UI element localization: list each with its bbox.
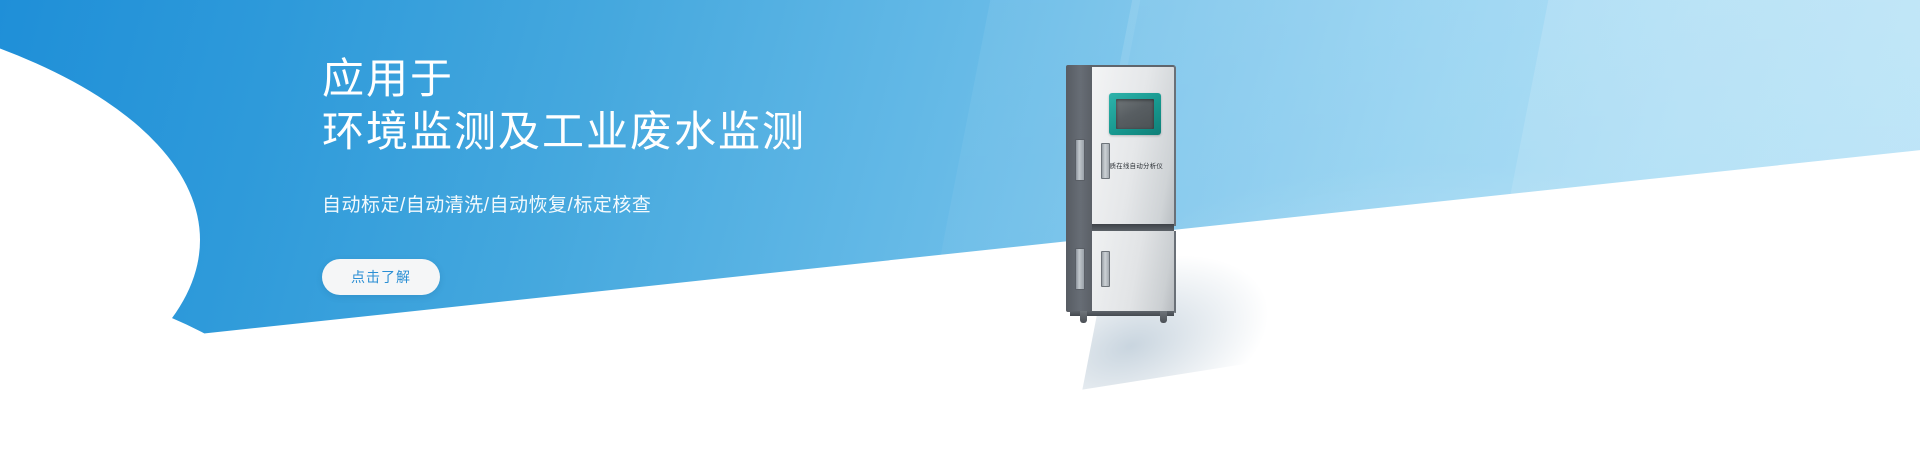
- hero-copy-block: 应用于 环境监测及工业废水监测 自动标定/自动清洗/自动恢复/标定核查 点击了解: [322, 52, 1022, 295]
- front-latch-upper-icon: [1101, 143, 1110, 179]
- caster-right-icon: [1160, 311, 1167, 323]
- caster-left-icon: [1080, 311, 1087, 323]
- learn-more-button[interactable]: 点击了解: [322, 259, 440, 295]
- cabinet-side-panel: [1066, 65, 1092, 312]
- cabinet-door-seam: [1092, 224, 1174, 231]
- hero-headline: 应用于 环境监测及工业废水监测: [322, 52, 1022, 158]
- side-latch-upper-icon: [1075, 139, 1085, 181]
- headline-line-2: 环境监测及工业废水监测: [322, 105, 1022, 158]
- hero-banner: 应用于 环境监测及工业废水监测 自动标定/自动清洗/自动恢复/标定核查 点击了解…: [0, 0, 1920, 450]
- side-latch-lower-icon: [1075, 248, 1085, 290]
- analyzer-cabinet: 水质在线自动分析仪: [1066, 65, 1174, 312]
- product-image: 水质在线自动分析仪: [1058, 60, 1278, 380]
- headline-line-1: 应用于: [322, 52, 1022, 105]
- analyzer-display-bezel: [1109, 93, 1161, 135]
- analyzer-display-screen: [1116, 99, 1154, 129]
- hero-subtitle: 自动标定/自动清洗/自动恢复/标定核查: [322, 190, 1022, 217]
- front-latch-lower-icon: [1101, 251, 1110, 287]
